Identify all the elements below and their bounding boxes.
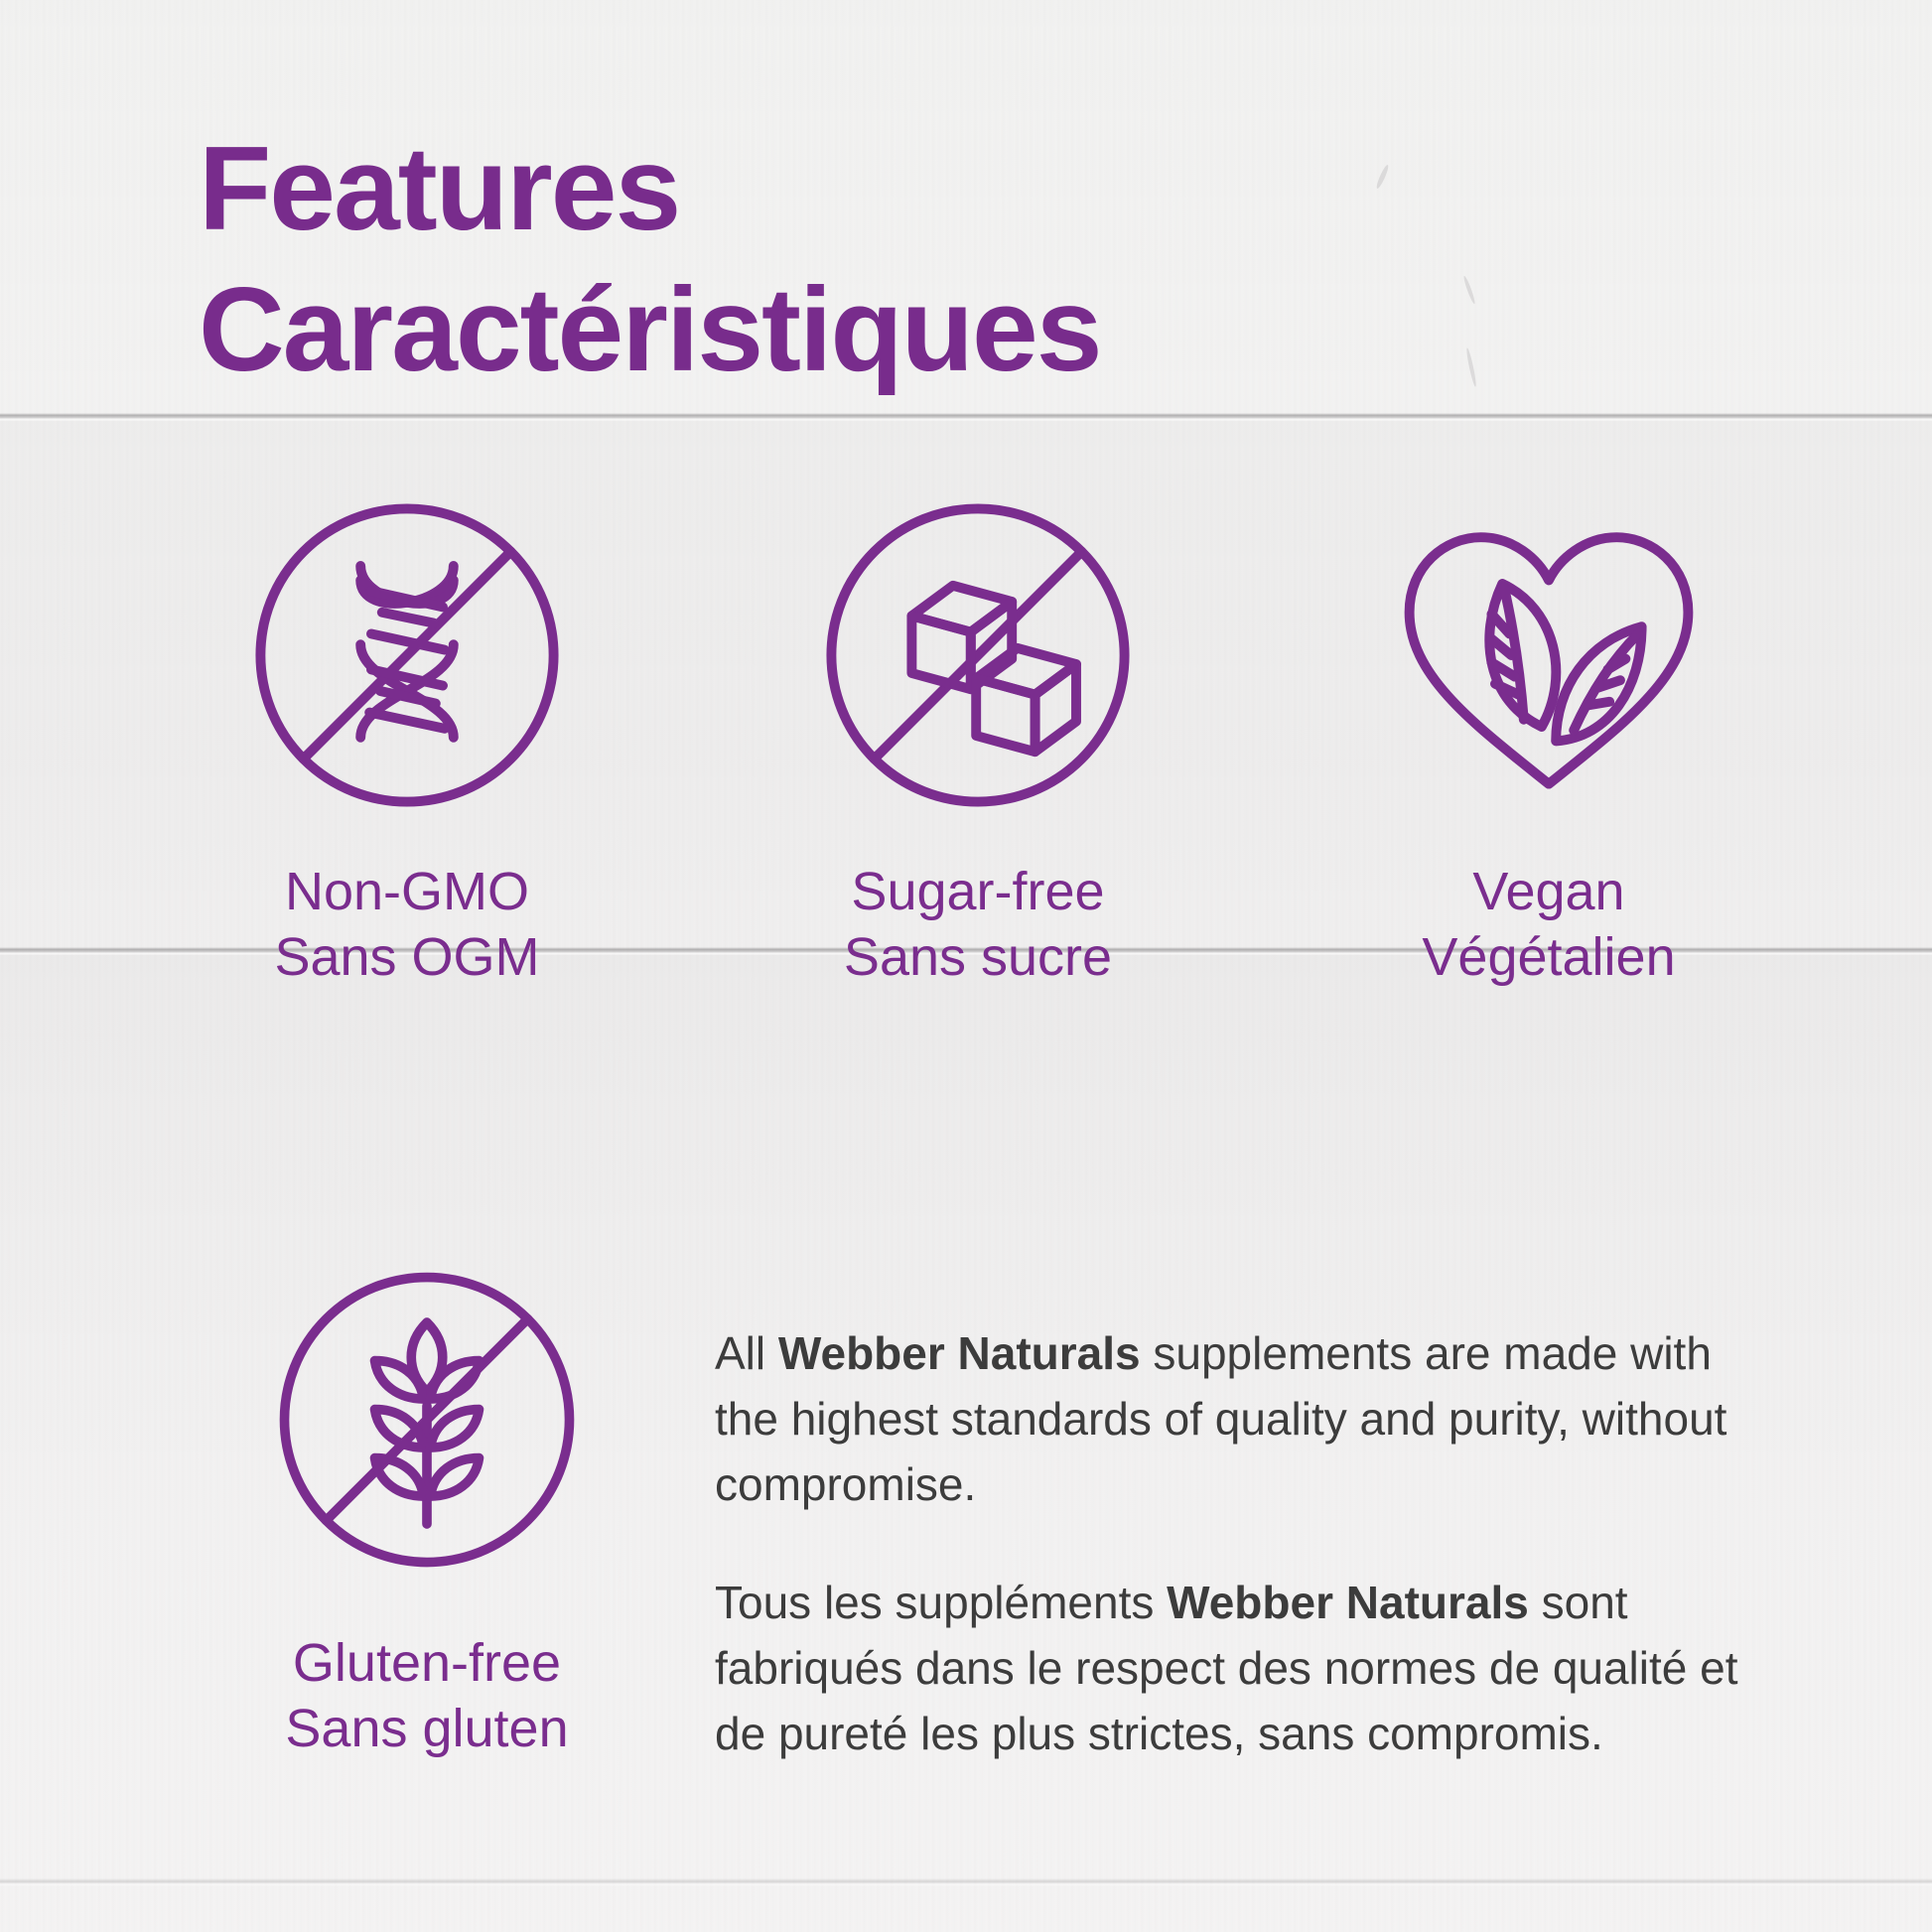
page-title-english: Features: [199, 119, 1688, 260]
page-title-french: Caractéristiques: [199, 260, 1688, 401]
feature-label-en: Gluten-free: [285, 1631, 568, 1697]
brand-copy-french: Tous les suppléments Webber Naturals son…: [715, 1570, 1787, 1767]
no-sugar-cubes-icon: [789, 467, 1167, 844]
brand-copy-english: All Webber Naturals supplements are made…: [715, 1320, 1787, 1518]
feature-label-non-gmo: Non-GMO Sans OGM: [274, 860, 539, 991]
brand-name-en: Webber Naturals: [778, 1327, 1141, 1379]
feature-row-bottom: Gluten-free Sans gluten All Webber Natur…: [0, 1236, 1932, 1766]
brand-copy: All Webber Naturals supplements are made…: [715, 1320, 1787, 1766]
feature-non-gmo: Non-GMO Sans OGM: [109, 467, 705, 991]
vegan-heart-leaf-icon: [1360, 467, 1737, 844]
page-title: Features Caractéristiques: [199, 119, 1688, 400]
copy-fr-prefix: Tous les suppléments: [715, 1577, 1167, 1628]
feature-label-fr: Végétalien: [1422, 925, 1675, 991]
feature-label-vegan: Vegan Végétalien: [1422, 860, 1675, 991]
plank-seam-1: [0, 413, 1932, 421]
feature-label-gluten-free: Gluten-free Sans gluten: [285, 1631, 568, 1762]
feature-label-fr: Sans gluten: [285, 1697, 568, 1762]
feature-gluten-free: Gluten-free Sans gluten: [149, 1236, 705, 1762]
feature-infographic: Features Caractéristiques: [0, 0, 1932, 1932]
feature-sugar-free: Sugar-free Sans sucre: [680, 467, 1276, 991]
feature-vegan: Vegan Végétalien: [1251, 467, 1847, 991]
feature-label-en: Vegan: [1422, 860, 1675, 925]
feature-label-fr: Sans OGM: [274, 925, 539, 991]
no-gmo-dna-icon: [218, 467, 596, 844]
feature-label-sugar-free: Sugar-free Sans sucre: [844, 860, 1112, 991]
copy-en-prefix: All: [715, 1327, 778, 1379]
feature-label-en: Sugar-free: [844, 860, 1112, 925]
feature-row-top: Non-GMO Sans OGM: [0, 467, 1932, 991]
feature-label-en: Non-GMO: [274, 860, 539, 925]
plank-seam-3: [0, 1878, 1932, 1886]
brand-name-fr: Webber Naturals: [1167, 1577, 1529, 1628]
feature-label-fr: Sans sucre: [844, 925, 1112, 991]
no-gluten-wheat-icon: [243, 1236, 611, 1603]
